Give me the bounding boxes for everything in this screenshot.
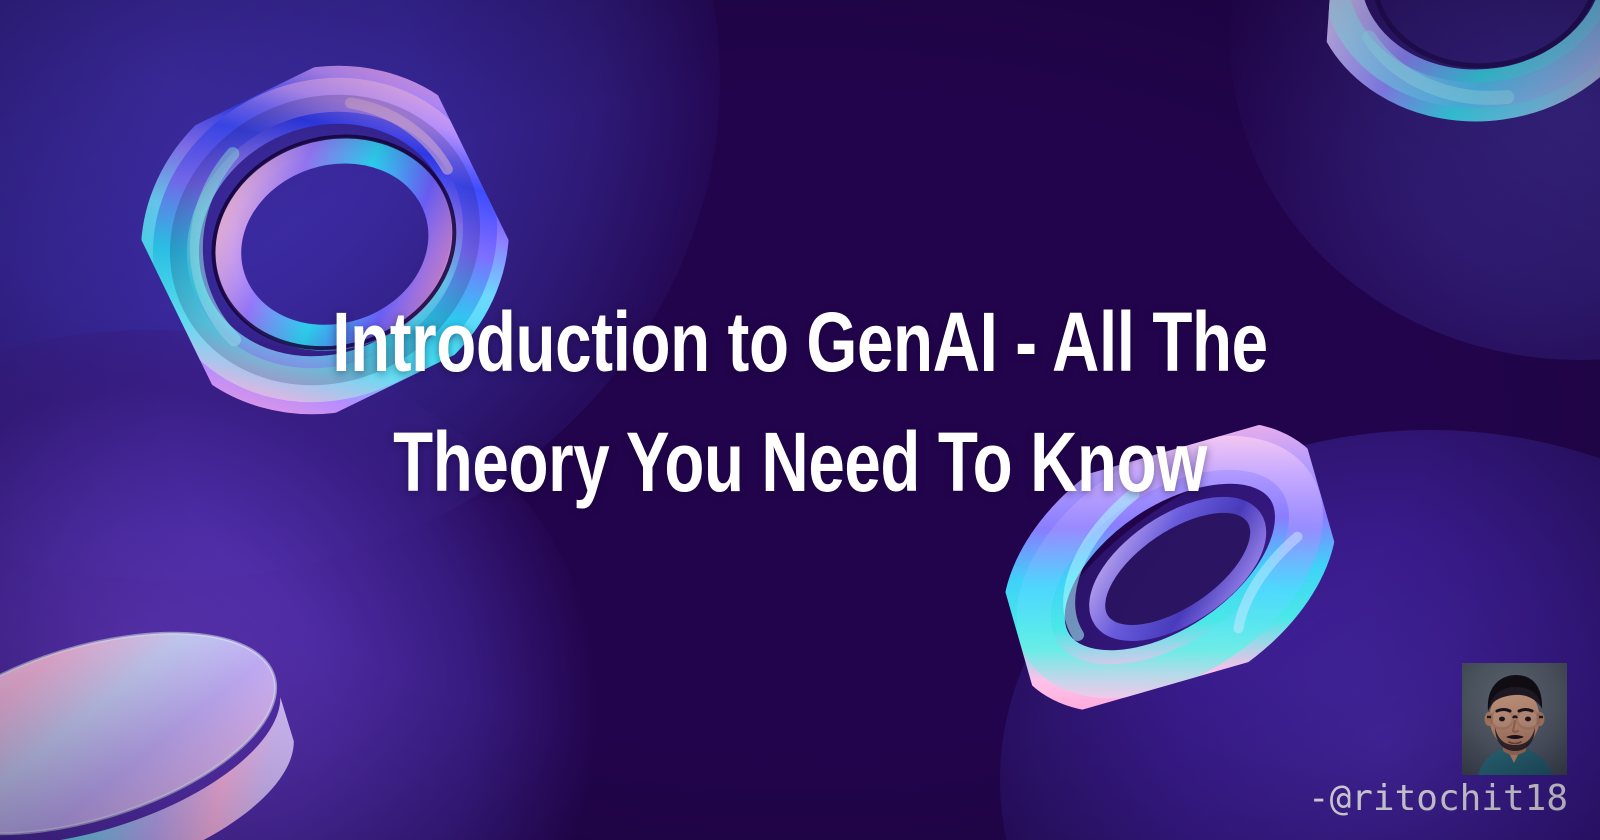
cover-image-canvas: Introduction to GenAI - All The Theory Y…: [0, 0, 1600, 840]
title-line-2: Theory You Need To Know: [176, 402, 1424, 522]
title-line-1: Introduction to GenAI - All The: [176, 282, 1424, 402]
avatar: [1462, 663, 1567, 775]
author-handle: -@ritochit18: [1160, 778, 1568, 819]
page-title: Introduction to GenAI - All The Theory Y…: [0, 282, 1600, 522]
